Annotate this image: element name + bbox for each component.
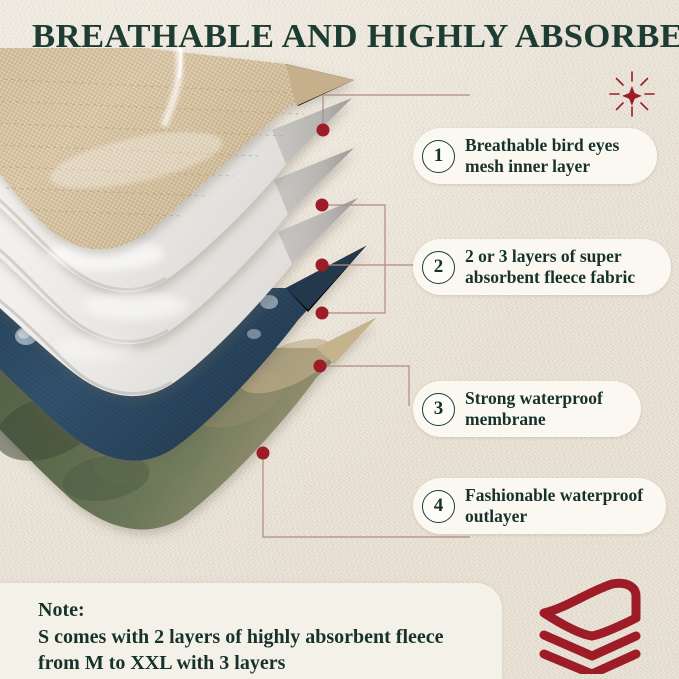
callout-text-3: Strong waterproof membrane <box>465 388 603 430</box>
infographic-canvas: BREATHABLE AND HIGHLY ABSORBENT <box>0 0 679 679</box>
callout-waterproof-membrane[interactable]: 3 Strong waterproof membrane <box>413 381 641 437</box>
layered-fabric-illustration <box>0 48 376 548</box>
callout-text-1-line-2: mesh inner layer <box>465 156 619 177</box>
page-title: BREATHABLE AND HIGHLY ABSORBENT <box>32 18 675 56</box>
callout-breathable-mesh[interactable]: 1 Breathable bird eyes mesh inner layer <box>413 128 657 184</box>
callout-text-4-line-2: outlayer <box>465 506 643 527</box>
callout-number-1: 1 <box>422 140 455 173</box>
callout-fashionable-outlayer[interactable]: 4 Fashionable waterproof outlayer <box>413 478 666 534</box>
callout-text-2-line-1: 2 or 3 layers of super <box>465 246 635 267</box>
callout-text-2-line-2: absorbent fleece fabric <box>465 267 635 288</box>
sparkle-icon <box>608 70 656 118</box>
callout-text-2: 2 or 3 layers of super absorbent fleece … <box>465 246 635 288</box>
callout-text-3-line-2: membrane <box>465 409 603 430</box>
note-text: Note: S comes with 2 layers of highly ab… <box>38 597 444 677</box>
callout-text-1: Breathable bird eyes mesh inner layer <box>465 135 619 177</box>
callout-text-1-line-1: Breathable bird eyes <box>465 135 619 156</box>
callout-text-3-line-1: Strong waterproof <box>465 388 603 409</box>
layers-stack-icon <box>536 578 646 674</box>
note-line-3: from M to XXL with 3 layers <box>38 650 444 677</box>
callout-text-4: Fashionable waterproof outlayer <box>465 485 643 527</box>
callout-text-4-line-1: Fashionable waterproof <box>465 485 643 506</box>
callout-absorbent-fleece[interactable]: 2 2 or 3 layers of super absorbent fleec… <box>413 239 671 295</box>
callout-number-3: 3 <box>422 393 455 426</box>
callout-number-2: 2 <box>422 251 455 284</box>
note-line-1: Note: <box>38 597 444 624</box>
callout-number-4: 4 <box>422 490 455 523</box>
note-line-2: S comes with 2 layers of highly absorben… <box>38 624 444 651</box>
